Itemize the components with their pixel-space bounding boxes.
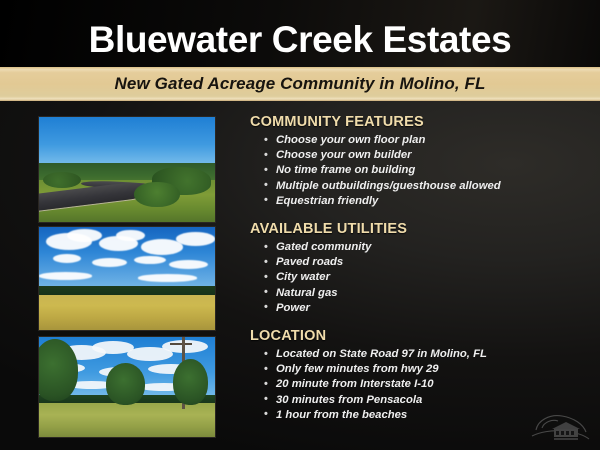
section-heading-community-features: COMMUNITY FEATURES (250, 114, 580, 130)
list-item: Located on State Road 97 in Molino, FL (264, 347, 580, 362)
page-subtitle: New Gated Acreage Community in Molino, F… (115, 74, 486, 94)
photo-grassy-lot-with-trees (39, 337, 215, 437)
list-item: 20 minute from Interstate I-10 (264, 377, 580, 392)
list-item: Power (264, 301, 580, 316)
list-item: Only few minutes from hwy 29 (264, 362, 580, 377)
list-item: Natural gas (264, 286, 580, 301)
list-item: No time frame on building (264, 163, 580, 178)
photo2-field (39, 295, 215, 330)
photo1-sky (39, 117, 215, 167)
list-item: 30 minutes from Pensacola (264, 393, 580, 408)
bullet-list-community-features: Choose your own floor plan Choose your o… (250, 133, 580, 209)
photo2-cloud (39, 272, 92, 279)
content-column: COMMUNITY FEATURES Choose your own floor… (250, 114, 580, 433)
list-item: Gated community (264, 240, 580, 255)
subtitle-band: New Gated Acreage Community in Molino, F… (0, 67, 600, 101)
list-item: Paved roads (264, 255, 580, 270)
photo2-cloud (138, 274, 198, 281)
slide-canvas: Bluewater Creek Estates New Gated Acreag… (0, 0, 600, 450)
photo3-tree-right (173, 359, 208, 405)
list-item: City water (264, 270, 580, 285)
list-item: Choose your own builder (264, 148, 580, 163)
photo1-bush-right-lower (134, 182, 180, 207)
realty-house-logo-watermark (528, 410, 592, 444)
section-community-features: COMMUNITY FEATURES Choose your own floor… (250, 114, 580, 209)
photo-open-golden-field (39, 227, 215, 330)
list-item: Multiple outbuildings/guesthouse allowed (264, 179, 580, 194)
page-title: Bluewater Creek Estates (89, 21, 512, 58)
section-heading-available-utilities: AVAILABLE UTILITIES (250, 221, 580, 237)
photo3-grass (39, 403, 215, 437)
photo2-cloud (53, 254, 81, 263)
photo-paved-road-through-property (39, 117, 215, 222)
photo3-tree-left (39, 339, 78, 401)
section-heading-location: LOCATION (250, 328, 580, 344)
section-location: LOCATION Located on State Road 97 in Mol… (250, 328, 580, 423)
title-area: Bluewater Creek Estates (0, 14, 600, 64)
photo2-cloud (134, 256, 166, 264)
section-available-utilities: AVAILABLE UTILITIES Gated community Pave… (250, 221, 580, 316)
photo2-cloud (176, 232, 215, 245)
list-item: Equestrian friendly (264, 194, 580, 209)
bullet-list-available-utilities: Gated community Paved roads City water N… (250, 240, 580, 316)
photo3-tree-center (106, 363, 145, 405)
list-item: Choose your own floor plan (264, 133, 580, 148)
